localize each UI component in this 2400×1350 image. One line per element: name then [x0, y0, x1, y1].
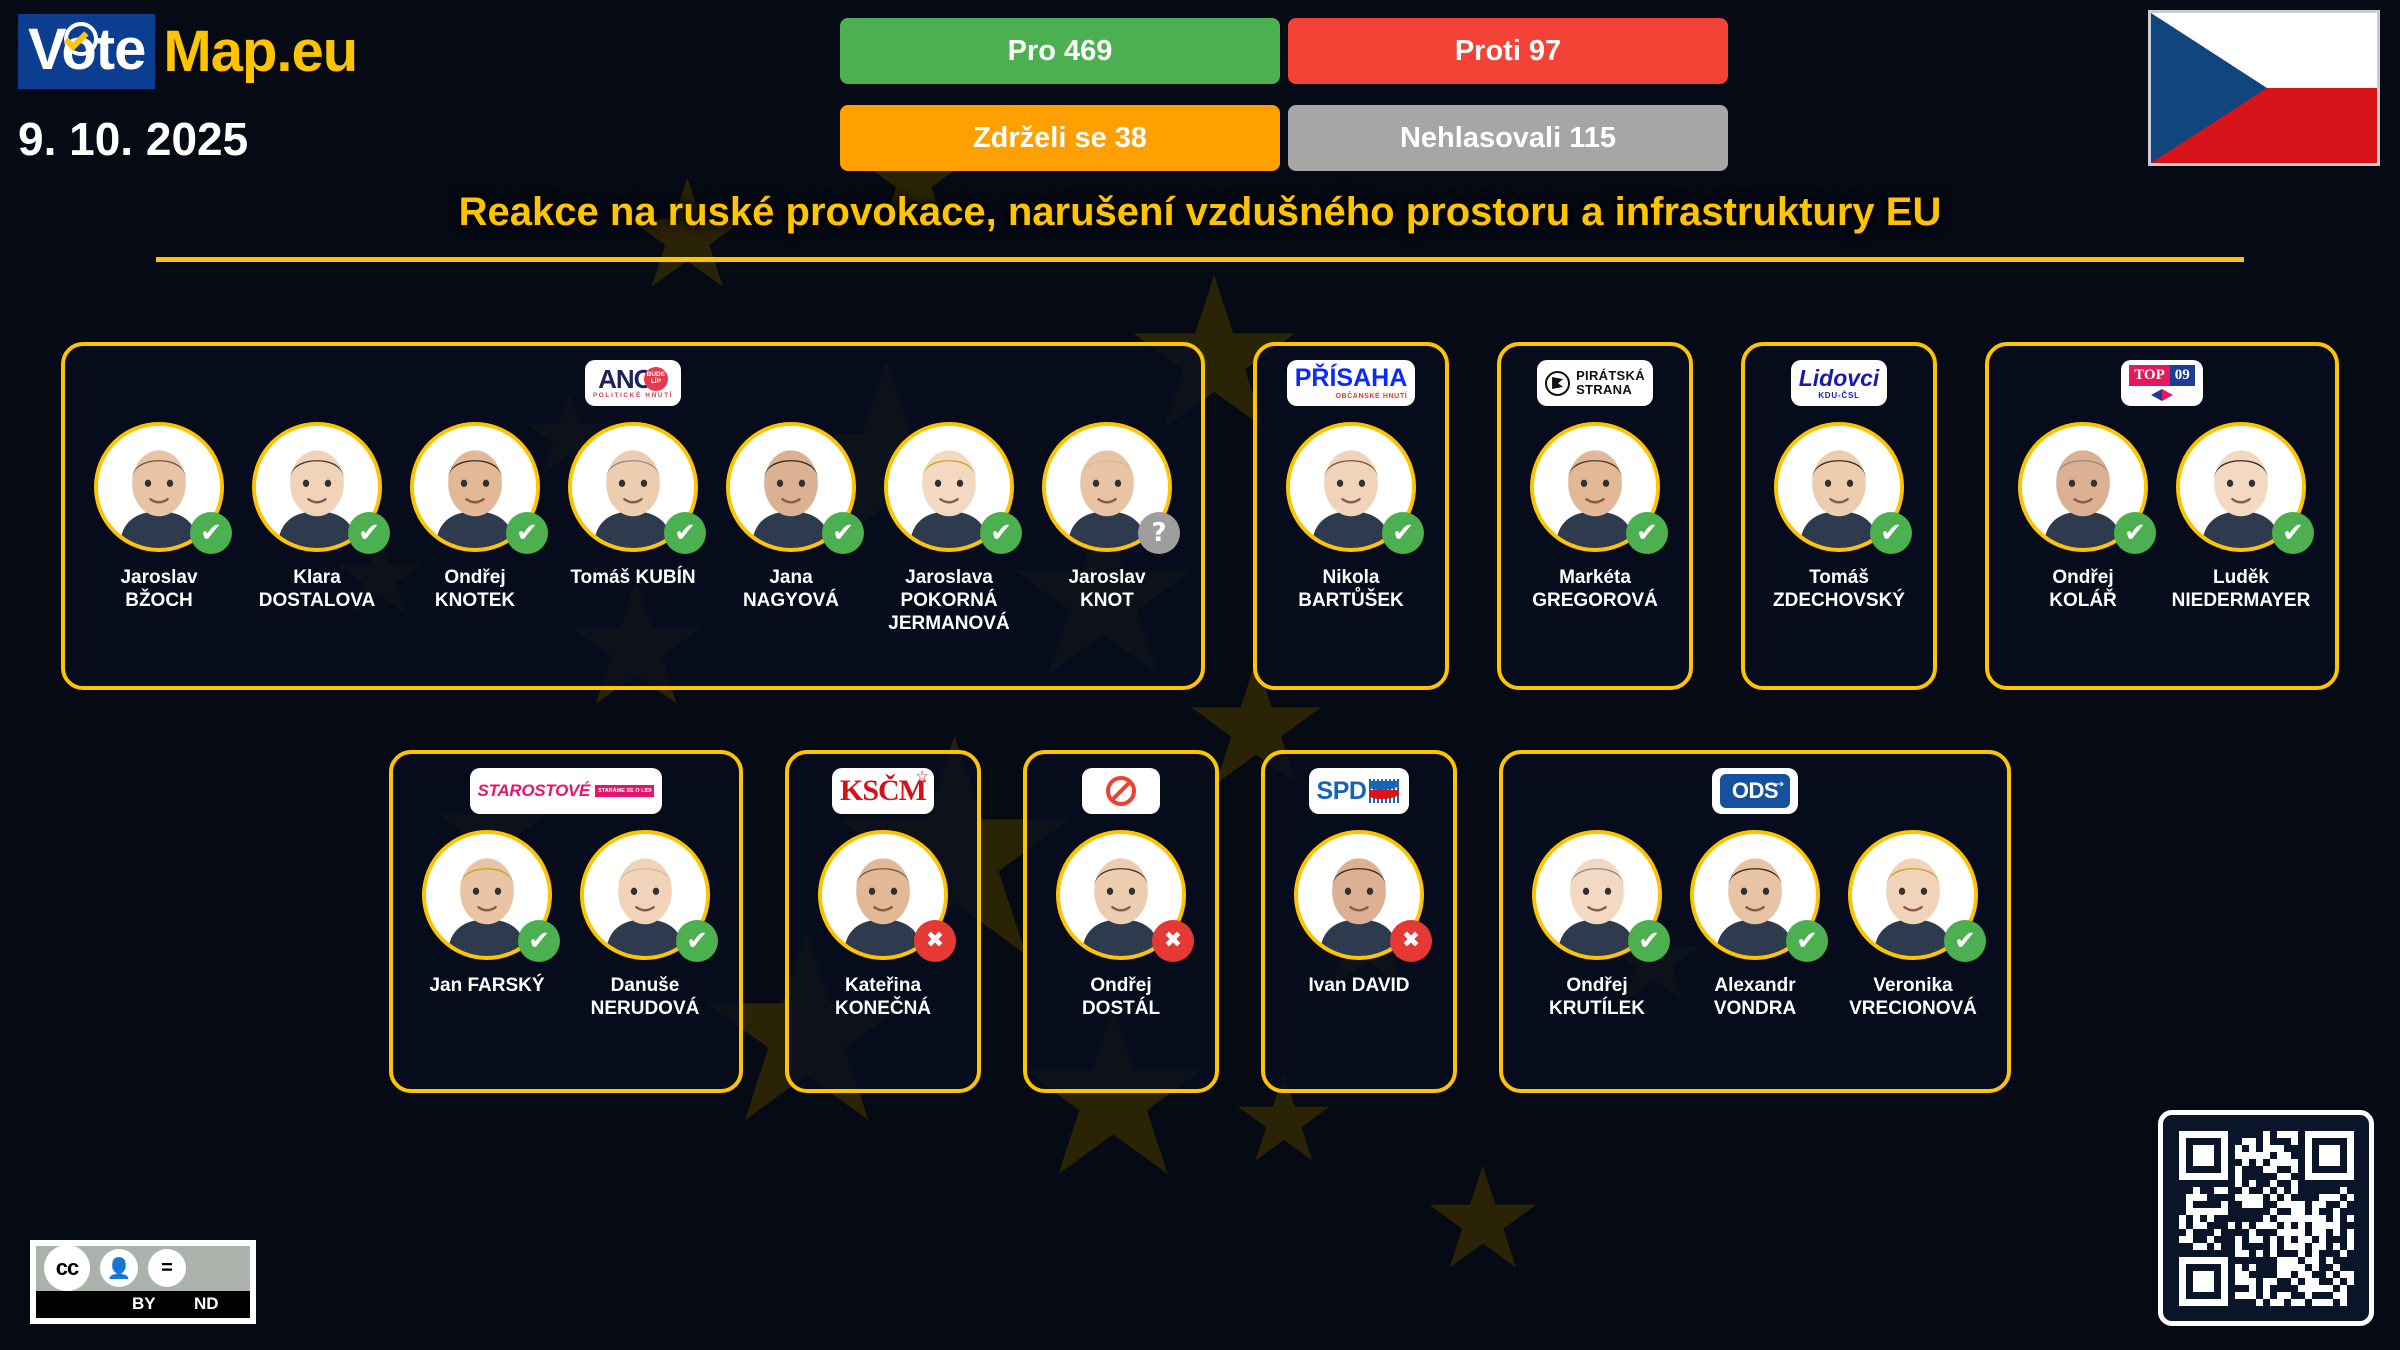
party-card: PIRÁTSKÁSTRANA ✔MarkétaGREGOROVÁ	[1497, 342, 1693, 690]
mep-card[interactable]: ✖Ivan DAVID	[1283, 830, 1435, 997]
party-card: ANO BUDE LÍP POLITICKÉ HNUTÍ ✔JaroslavBŽ…	[61, 342, 1205, 690]
party-card: Lidovci KDU-ČSL ✔TomášZDECHOVSKÝ	[1741, 342, 1937, 690]
mep-given-name: Kateřina	[845, 975, 921, 996]
portrait-box: ✖	[818, 830, 948, 960]
mep-card[interactable]: ✔JanaNAGYOVÁ	[715, 422, 867, 612]
vote-badge-yes: ✔	[2114, 512, 2156, 554]
mep-given-name: Danuše	[611, 975, 680, 996]
mep-name: VeronikaVRECIONOVÁ	[1849, 974, 1977, 1020]
tally-zdrzeli-se[interactable]: Zdrželi se 38	[840, 105, 1280, 171]
mep-name: Tomáš KUBÍN	[570, 566, 695, 589]
vote-badge-none: ?	[1138, 512, 1180, 554]
votemap-poster: ★★★★★★★★★★★★★★★★★★ Vote Map.eu 9. 10. 20…	[0, 0, 2400, 1350]
mep-card[interactable]: ✔LuděkNIEDERMAYER	[2165, 422, 2317, 612]
party-logo[interactable]: TOP 09	[2121, 360, 2203, 406]
header: Vote Map.eu 9. 10. 2025 Pro 469 Proti 97…	[0, 0, 2400, 200]
vote-badge-yes: ✔	[1626, 512, 1668, 554]
mep-card[interactable]: ?JaroslavKNOT	[1031, 422, 1183, 612]
mep-card[interactable]: ✔OndřejKRUTÍLEK	[1521, 830, 1673, 1020]
portrait-box: ✔	[2018, 422, 2148, 552]
mep-family-name: DOSTALOVA	[259, 590, 375, 611]
mep-list: ✔OndřejKRUTÍLEK ✔AlexandrVONDRA ✔Veronik…	[1521, 830, 1989, 1020]
portrait-box: ✔	[94, 422, 224, 552]
mep-family-name: KOLÁŘ	[2049, 590, 2117, 611]
portrait-box: ✔	[884, 422, 1014, 552]
mep-name: OndřejKRUTÍLEK	[1549, 974, 1645, 1020]
party-logo[interactable]: KSČM ☆	[832, 768, 934, 814]
mep-given-name: Ondřej	[1090, 975, 1151, 996]
logo-map-text: Map.eu	[155, 18, 357, 85]
czech-flag-icon	[2148, 10, 2380, 166]
vote-badge-yes: ✔	[518, 920, 560, 962]
mep-name: JanaNAGYOVÁ	[743, 566, 839, 612]
mep-given-name: Nikola	[1322, 567, 1379, 588]
lidovci-logo: Lidovci KDU-ČSL	[1799, 367, 1880, 400]
mep-card[interactable]: ✔NikolaBARTŮŠEK	[1275, 422, 1427, 612]
mep-list: ✔NikolaBARTŮŠEK	[1275, 422, 1427, 612]
mep-list: ✔MarkétaGREGOROVÁ	[1519, 422, 1671, 612]
mep-family-name: VRECIONOVÁ	[1849, 998, 1977, 1019]
mep-given-name: Jan	[429, 975, 462, 996]
mep-card[interactable]: ✔KlaraDOSTALOVA	[241, 422, 393, 612]
cc-nd-equals-icon: =	[148, 1249, 186, 1287]
mep-family-name: NIEDERMAYER	[2172, 590, 2311, 611]
mep-family-name: GREGOROVÁ	[1532, 590, 1658, 611]
vote-date: 9. 10. 2025	[18, 112, 248, 166]
mep-given-name: Luděk	[2213, 567, 2269, 588]
portrait-box: ✔	[1530, 422, 1660, 552]
mep-name: JaroslavaPOKORNÁ JERMANOVÁ	[873, 566, 1025, 636]
mep-family-name: POKORNÁ JERMANOVÁ	[888, 590, 1009, 634]
mep-family-name: FARSKÝ	[467, 975, 544, 996]
mep-list: ✔Jan FARSKÝ ✔DanušeNERUDOVÁ	[411, 830, 721, 1020]
party-row-bottom: STAROSTOVÉ STARÁME SE O LIDI ✔Jan FARSKÝ…	[0, 750, 2400, 1093]
tally-nehlasovali[interactable]: Nehlasovali 115	[1288, 105, 1728, 171]
mep-family-name: NERUDOVÁ	[591, 998, 700, 1019]
mep-card[interactable]: ✔Tomáš KUBÍN	[557, 422, 709, 589]
mep-name: OndřejKOLÁŘ	[2049, 566, 2117, 612]
mep-given-name: Alexandr	[1714, 975, 1795, 996]
party-logo[interactable]: Lidovci KDU-ČSL	[1791, 360, 1888, 406]
cc-by-label: BY	[132, 1294, 156, 1314]
subject-divider	[156, 257, 2244, 262]
prisaha-logo: PŘÍSAHA OBČANSKÉ HNUTÍ	[1295, 366, 1408, 400]
piratska-strana-logo: PIRÁTSKÁSTRANA	[1545, 369, 1645, 396]
cc-license-badge[interactable]: cc 👤 = BY ND	[30, 1240, 256, 1324]
kscm-logo: KSČM ☆	[840, 774, 926, 808]
mep-name: OndřejDOSTÁL	[1082, 974, 1160, 1020]
mep-family-name: VONDRA	[1714, 998, 1796, 1019]
portrait-box: ✔	[2176, 422, 2306, 552]
mep-name: OndřejKNOTEK	[435, 566, 515, 612]
mep-given-name: Jaroslav	[120, 567, 197, 588]
top09-logo: TOP 09	[2129, 365, 2195, 401]
portrait-box: ✔	[1848, 830, 1978, 960]
mep-card[interactable]: ✖OndřejDOSTÁL	[1045, 830, 1197, 1020]
mep-name: KlaraDOSTALOVA	[259, 566, 375, 612]
mep-name: JaroslavBŽOCH	[120, 566, 197, 612]
vote-badge-no: ✖	[1390, 920, 1432, 962]
mep-family-name: NAGYOVÁ	[743, 590, 839, 611]
subject-block: Reakce na ruské provokace, narušení vzdu…	[0, 190, 2400, 262]
spd-logo: SPD	[1317, 777, 1402, 806]
vote-badge-yes: ✔	[1870, 512, 1912, 554]
mep-given-name: Klara	[293, 567, 341, 588]
party-logo[interactable]	[1082, 768, 1160, 814]
party-logo[interactable]: PIRÁTSKÁSTRANA	[1537, 360, 1653, 406]
check-circle-icon	[64, 22, 98, 56]
ano-logo: ANO BUDE LÍP POLITICKÉ HNUTÍ	[593, 366, 673, 400]
mep-card[interactable]: ✔JaroslavBŽOCH	[83, 422, 235, 612]
ods-logo: ODS ⟶	[1720, 774, 1790, 808]
mep-list: ✔JaroslavBŽOCH ✔KlaraDOSTALOVA ✔OndřejKN…	[83, 422, 1183, 636]
mep-given-name: Jana	[769, 567, 812, 588]
party-card: TOP 09 ✔OndřejKOLÁŘ ✔LuděkNIEDERMAYER	[1985, 342, 2339, 690]
portrait-box: ✔	[422, 830, 552, 960]
mep-name: KateřinaKONEČNÁ	[835, 974, 931, 1020]
party-card: SPD ✖Ivan DAVID	[1261, 750, 1457, 1093]
mep-name: Jan FARSKÝ	[429, 974, 544, 997]
mep-given-name: Veronika	[1873, 975, 1952, 996]
no-party-icon	[1106, 776, 1136, 806]
vote-badge-yes: ✔	[664, 512, 706, 554]
mep-card[interactable]: ✖KateřinaKONEČNÁ	[807, 830, 959, 1020]
mep-family-name: DOSTÁL	[1082, 998, 1160, 1019]
mep-given-name: Ondřej	[444, 567, 505, 588]
mep-family-name: KNOT	[1080, 590, 1134, 611]
mep-list: ✔OndřejKOLÁŘ ✔LuděkNIEDERMAYER	[2007, 422, 2317, 612]
star-icon: ★	[1420, 1150, 1546, 1290]
qr-code-image	[2173, 1125, 2360, 1312]
mep-card[interactable]: ✔OndřejKOLÁŘ	[2007, 422, 2159, 612]
vote-badge-yes: ✔	[2272, 512, 2314, 554]
mep-list: ✖KateřinaKONEČNÁ	[807, 830, 959, 1020]
mep-list: ✖Ivan DAVID	[1283, 830, 1435, 997]
vote-badge-yes: ✔	[348, 512, 390, 554]
mep-name: NikolaBARTŮŠEK	[1298, 566, 1404, 612]
vote-badge-yes: ✔	[1628, 920, 1670, 962]
party-row-top: ANO BUDE LÍP POLITICKÉ HNUTÍ ✔JaroslavBŽ…	[0, 342, 2400, 690]
portrait-box: ✔	[568, 422, 698, 552]
vote-badge-yes: ✔	[506, 512, 548, 554]
mep-given-name: Jaroslav	[1068, 567, 1145, 588]
mep-given-name: Tomáš	[570, 567, 630, 588]
subject-title: Reakce na ruské provokace, narušení vzdu…	[0, 190, 2400, 235]
vote-badge-yes: ✔	[822, 512, 864, 554]
mep-list: ✔TomášZDECHOVSKÝ	[1763, 422, 1915, 612]
vote-badge-no: ✖	[1152, 920, 1194, 962]
mep-name: MarkétaGREGOROVÁ	[1532, 566, 1658, 612]
logo-vote-text: Vote	[18, 14, 155, 89]
portrait-box: ✔	[1690, 830, 1820, 960]
portrait-box: ✔	[410, 422, 540, 552]
mep-card[interactable]: ✔MarkétaGREGOROVÁ	[1519, 422, 1671, 612]
starostove-logo: STAROSTOVÉ STARÁME SE O LIDI	[478, 781, 655, 801]
site-logo[interactable]: Vote Map.eu	[18, 14, 357, 89]
party-card: PŘÍSAHA OBČANSKÉ HNUTÍ ✔NikolaBARTŮŠEK	[1253, 342, 1449, 690]
party-logo[interactable]: STAROSTOVÉ STARÁME SE O LIDI	[470, 768, 663, 814]
party-logo[interactable]: ANO BUDE LÍP POLITICKÉ HNUTÍ	[585, 360, 681, 406]
vote-badge-no: ✖	[914, 920, 956, 962]
party-card: ✖OndřejDOSTÁL	[1023, 750, 1219, 1093]
mep-card[interactable]: ✔JaroslavaPOKORNÁ JERMANOVÁ	[873, 422, 1025, 636]
mep-card[interactable]: ✔OndřejKNOTEK	[399, 422, 551, 612]
mep-given-name: Markéta	[1559, 567, 1631, 588]
tally-pro[interactable]: Pro 469	[840, 18, 1280, 84]
portrait-box: ✔	[252, 422, 382, 552]
mep-card[interactable]: ✔VeronikaVRECIONOVÁ	[1837, 830, 1989, 1020]
tally-proti[interactable]: Proti 97	[1288, 18, 1728, 84]
mep-family-name: BŽOCH	[125, 590, 193, 611]
mep-family-name: BARTŮŠEK	[1298, 590, 1404, 611]
mep-name: JaroslavKNOT	[1068, 566, 1145, 612]
party-card: STAROSTOVÉ STARÁME SE O LIDI ✔Jan FARSKÝ…	[389, 750, 743, 1093]
vote-badge-yes: ✔	[1786, 920, 1828, 962]
cc-nd-label: ND	[194, 1294, 219, 1314]
mep-name: AlexandrVONDRA	[1714, 974, 1796, 1020]
mep-given-name: Ivan	[1308, 975, 1346, 996]
mep-family-name: KUBÍN	[635, 567, 695, 588]
mep-name: Ivan DAVID	[1308, 974, 1409, 997]
mep-card[interactable]: ✔DanušeNERUDOVÁ	[569, 830, 721, 1020]
vote-badge-yes: ✔	[676, 920, 718, 962]
mep-given-name: Ondřej	[1566, 975, 1627, 996]
party-card: KSČM ☆ ✖KateřinaKONEČNÁ	[785, 750, 981, 1093]
portrait-box: ✔	[1774, 422, 1904, 552]
mep-name: DanušeNERUDOVÁ	[591, 974, 700, 1020]
vote-badge-yes: ✔	[190, 512, 232, 554]
party-logo[interactable]: SPD	[1309, 768, 1410, 814]
portrait-box: ✖	[1056, 830, 1186, 960]
mep-family-name: DAVID	[1352, 975, 1410, 996]
portrait-box: ✔	[726, 422, 856, 552]
portrait-box: ✔	[1532, 830, 1662, 960]
vote-badge-yes: ✔	[980, 512, 1022, 554]
mep-family-name: KNOTEK	[435, 590, 515, 611]
mep-card[interactable]: ✔TomášZDECHOVSKÝ	[1763, 422, 1915, 612]
portrait-box: ✔	[1286, 422, 1416, 552]
portrait-box: ?	[1042, 422, 1172, 552]
portrait-box: ✖	[1294, 830, 1424, 960]
mep-family-name: KRUTÍLEK	[1549, 998, 1645, 1019]
mep-card[interactable]: ✔AlexandrVONDRA	[1679, 830, 1831, 1020]
mep-card[interactable]: ✔Jan FARSKÝ	[411, 830, 563, 997]
mep-given-name: Jaroslava	[905, 567, 993, 588]
mep-name: TomášZDECHOVSKÝ	[1773, 566, 1905, 612]
mep-list: ✖OndřejDOSTÁL	[1045, 830, 1197, 1020]
vote-badge-yes: ✔	[1382, 512, 1424, 554]
mep-given-name: Ondřej	[2052, 567, 2113, 588]
party-card: ODS ⟶ ✔OndřejKRUTÍLEK ✔AlexandrVONDRA ✔V…	[1499, 750, 2011, 1093]
party-logo[interactable]: ODS ⟶	[1712, 768, 1798, 814]
mep-family-name: KONEČNÁ	[835, 998, 931, 1019]
cc-icon: cc	[44, 1245, 90, 1291]
mep-family-name: ZDECHOVSKÝ	[1773, 590, 1905, 611]
qr-code[interactable]	[2158, 1110, 2374, 1326]
mep-given-name: Tomáš	[1809, 567, 1869, 588]
party-logo[interactable]: PŘÍSAHA OBČANSKÉ HNUTÍ	[1287, 360, 1416, 406]
cc-by-person-icon: 👤	[100, 1249, 138, 1287]
vote-badge-yes: ✔	[1944, 920, 1986, 962]
mep-name: LuděkNIEDERMAYER	[2172, 566, 2311, 612]
portrait-box: ✔	[580, 830, 710, 960]
